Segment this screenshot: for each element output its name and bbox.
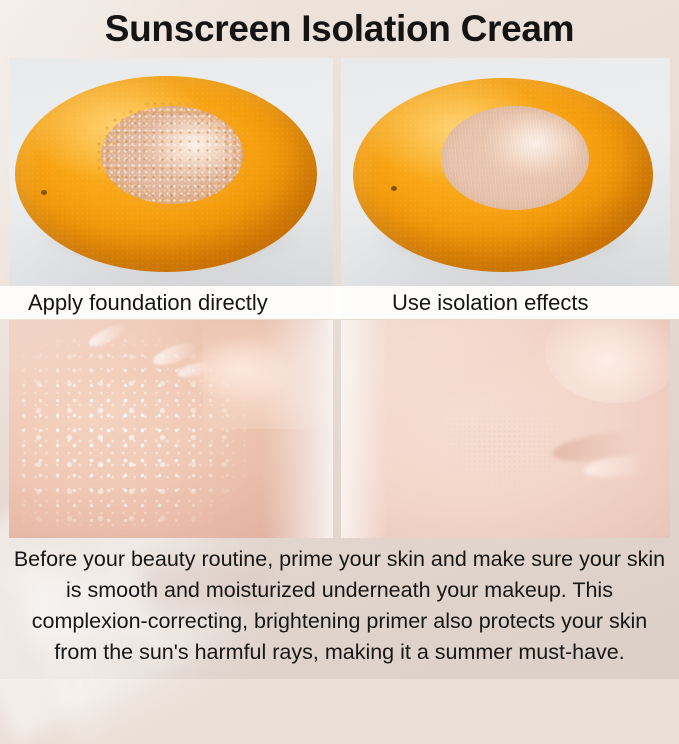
caption-left: Apply foundation directly: [28, 290, 268, 316]
foundation-patch-even: [441, 106, 589, 210]
orange-photo-isolation: [341, 58, 670, 286]
panel-orange-with-isolation: [341, 58, 670, 286]
orange-fruit: [15, 76, 317, 272]
orange-fruit: [353, 78, 653, 272]
skin-photo-direct: [9, 320, 333, 538]
skin-highlight: [545, 320, 670, 403]
skin-photo-isolation: [341, 320, 670, 538]
caption-divider: [333, 286, 341, 319]
panel-orange-foundation-direct: [9, 58, 333, 286]
orange-blemish: [41, 190, 47, 195]
caption-right: Use isolation effects: [392, 290, 588, 316]
product-description: Before your beauty routine, prime your s…: [8, 544, 671, 668]
orange-blemish: [391, 186, 397, 191]
photo-edge-fade: [262, 320, 333, 538]
panel-skin-with-isolation: [341, 320, 670, 538]
comparison-caption-bar: Apply foundation directly Use isolation …: [0, 286, 679, 319]
product-droplets: [15, 333, 255, 534]
orange-photo-direct: [9, 58, 333, 286]
foundation-patch-edge-texture: [95, 100, 249, 210]
photo-edge-fade: [341, 320, 387, 538]
page-title: Sunscreen Isolation Cream: [0, 4, 679, 54]
foundation-patch-uneven: [101, 106, 243, 204]
panel-skin-foundation-direct: [9, 320, 333, 538]
